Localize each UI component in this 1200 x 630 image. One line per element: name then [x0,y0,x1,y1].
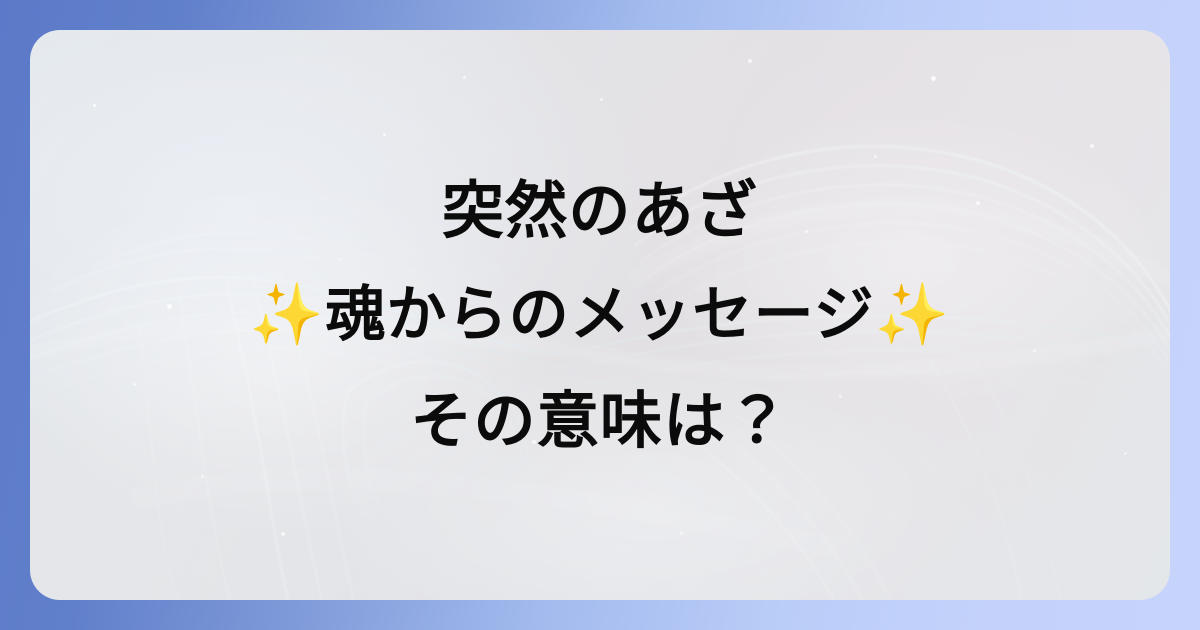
title-line-1: 突然のあざ [30,158,1170,263]
title-line-3: その意味は？ [30,368,1170,473]
title-block: 突然のあざ ✨魂からのメッセージ✨ その意味は？ [30,30,1170,600]
content-card: 突然のあざ ✨魂からのメッセージ✨ その意味は？ [30,30,1170,600]
poster-frame: 突然のあざ ✨魂からのメッセージ✨ その意味は？ [0,0,1200,630]
title-line-2: ✨魂からのメッセージ✨ [30,263,1170,368]
